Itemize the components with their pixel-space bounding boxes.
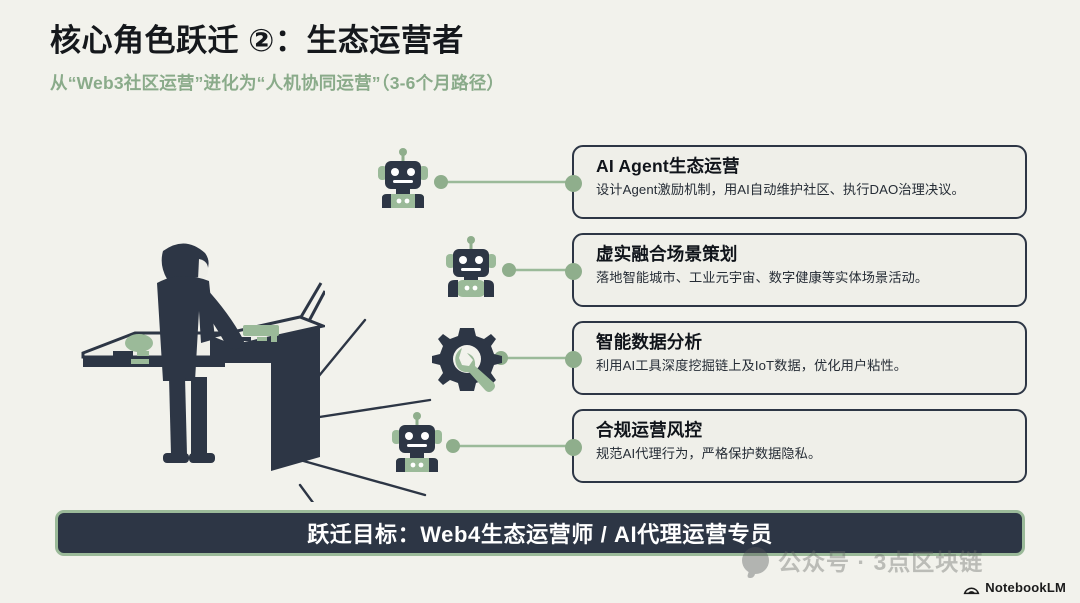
card-title: 虚实融合场景策划 <box>596 244 1025 265</box>
card-smart-data-analysis[interactable]: 智能数据分析 利用AI工具深度挖掘链上及IoT数据，优化用户粘性。 <box>572 321 1027 395</box>
notebooklm-label: NotebookLM <box>985 580 1066 595</box>
card-title: 智能数据分析 <box>596 332 1025 353</box>
diagram-stage: AI Agent生态运营 设计Agent激励机制，用AI自动维护社区、执行DAO… <box>0 130 1080 502</box>
card-virtual-physical-scene[interactable]: 虚实融合场景策划 落地智能城市、工业元宇宙、数字健康等实体场景活动。 <box>572 233 1027 307</box>
gear-wrench-icon <box>428 322 506 396</box>
slide-root: 核心角色跃迁 ②：生态运营者 从“Web3社区运营”进化为“人机协同运营”（3-… <box>0 0 1080 603</box>
goal-banner-text: 跃迁目标：Web4生态运营师 / AI代理运营专员 <box>307 517 773 549</box>
card-connector-dot <box>565 263 582 280</box>
card-description: 设计Agent激励机制，用AI自动维护社区、执行DAO治理决议。 <box>596 182 1025 199</box>
person-at-console-icon <box>75 225 325 485</box>
page-subtitle: 从“Web3社区运营”进化为“人机协同运营”（3-6个月路径） <box>50 70 1030 95</box>
card-connector-dot <box>565 351 582 368</box>
notebooklm-mark-icon <box>963 581 980 595</box>
page-title: 核心角色跃迁 ②：生态运营者 <box>50 22 1030 61</box>
notebooklm-logo: NotebookLM <box>963 580 1066 595</box>
goal-banner: 跃迁目标：Web4生态运营师 / AI代理运营专员 <box>55 510 1025 556</box>
card-title: 合规运营风控 <box>596 420 1025 441</box>
robot-icon-2 <box>434 236 508 298</box>
card-compliance-risk-control[interactable]: 合规运营风控 规范AI代理行为，严格保护数据隐私。 <box>572 409 1027 483</box>
robot-icon-4 <box>380 412 454 474</box>
card-title: AI Agent生态运营 <box>596 156 1025 177</box>
card-description: 落地智能城市、工业元宇宙、数字健康等实体场景活动。 <box>596 270 1025 287</box>
card-description: 利用AI工具深度挖掘链上及IoT数据，优化用户粘性。 <box>596 358 1025 375</box>
card-ai-agent-ecosystem[interactable]: AI Agent生态运营 设计Agent激励机制，用AI自动维护社区、执行DAO… <box>572 145 1027 219</box>
header: 核心角色跃迁 ②：生态运营者 从“Web3社区运营”进化为“人机协同运营”（3-… <box>50 22 1030 95</box>
card-connector-dot <box>565 439 582 456</box>
card-connector-dot <box>565 175 582 192</box>
robot-icon-1 <box>366 148 440 210</box>
card-description: 规范AI代理行为，严格保护数据隐私。 <box>596 446 1025 463</box>
